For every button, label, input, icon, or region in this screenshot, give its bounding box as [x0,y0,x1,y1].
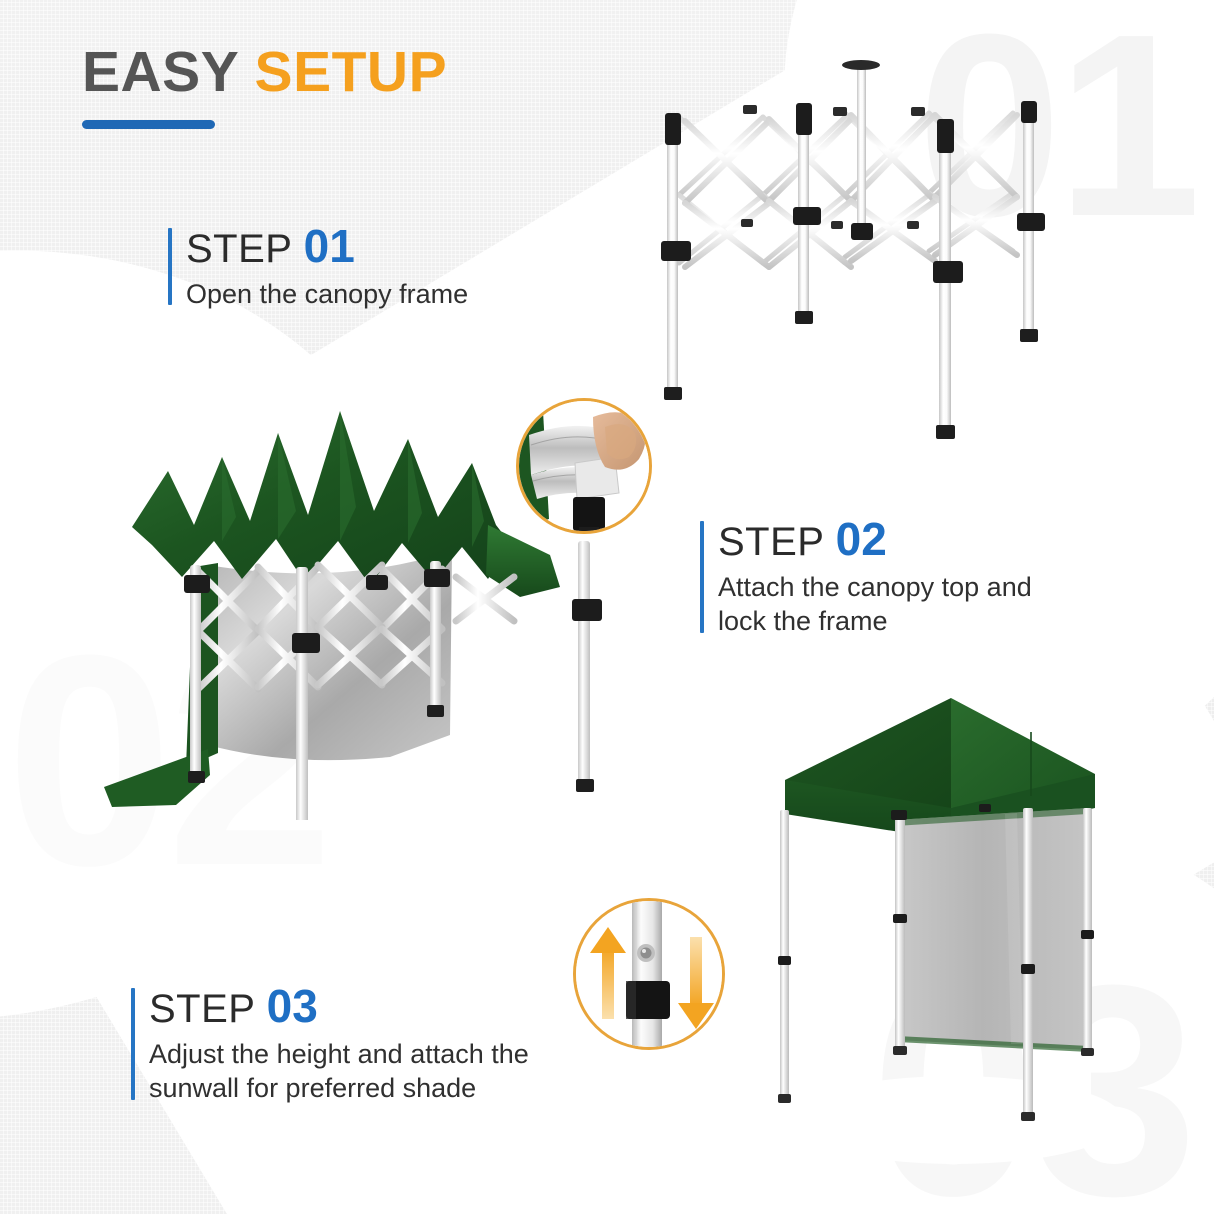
header: EASY SETUP [82,44,447,129]
step-2-heading: STEP 02 [718,515,1032,565]
step-2-description-line-2: lock the frame [718,604,1032,639]
title-word-setup: SETUP [255,40,448,104]
step-block-3: STEP 03 Adjust the height and attach the… [131,982,529,1106]
height-adjust-inset-graphic [576,901,725,1050]
step-block-2: STEP 02 Attach the canopy top and lock t… [700,515,1032,639]
infographic-canvas: 01 02 03 EASY SETUP STEP 01 Open the can… [0,0,1214,1214]
assembled-canopy-illustration [755,668,1125,1168]
step-3-heading: STEP 03 [149,982,529,1032]
step-3-number: 03 [267,980,318,1032]
step-1-description: Open the canopy frame [186,277,468,312]
step-3-description-line-2: sunwall for preferred shade [149,1071,529,1106]
height-adjustment-inset [573,898,725,1050]
step-2-description: Attach the canopy top and lock the frame [718,570,1032,639]
step-1-label: STEP [186,227,292,271]
page-title: EASY SETUP [82,44,447,101]
velcro-attachment-inset [516,398,652,534]
step-1-heading: STEP 01 [186,222,468,272]
step-2-number: 02 [836,513,887,565]
canopy-frame-illustration [645,45,1065,460]
step-2-description-line-1: Attach the canopy top and [718,570,1032,605]
step-1-number: 01 [304,220,355,272]
step-3-description-line-1: Adjust the height and attach the [149,1037,529,1072]
velcro-inset-graphic [519,401,652,534]
step-3-label: STEP [149,987,255,1031]
title-word-easy: EASY [82,40,238,104]
step-block-1: STEP 01 Open the canopy frame [168,222,468,311]
title-underline-rule [82,120,215,129]
step-2-label: STEP [718,520,824,564]
step-3-description: Adjust the height and attach the sunwall… [149,1037,529,1106]
